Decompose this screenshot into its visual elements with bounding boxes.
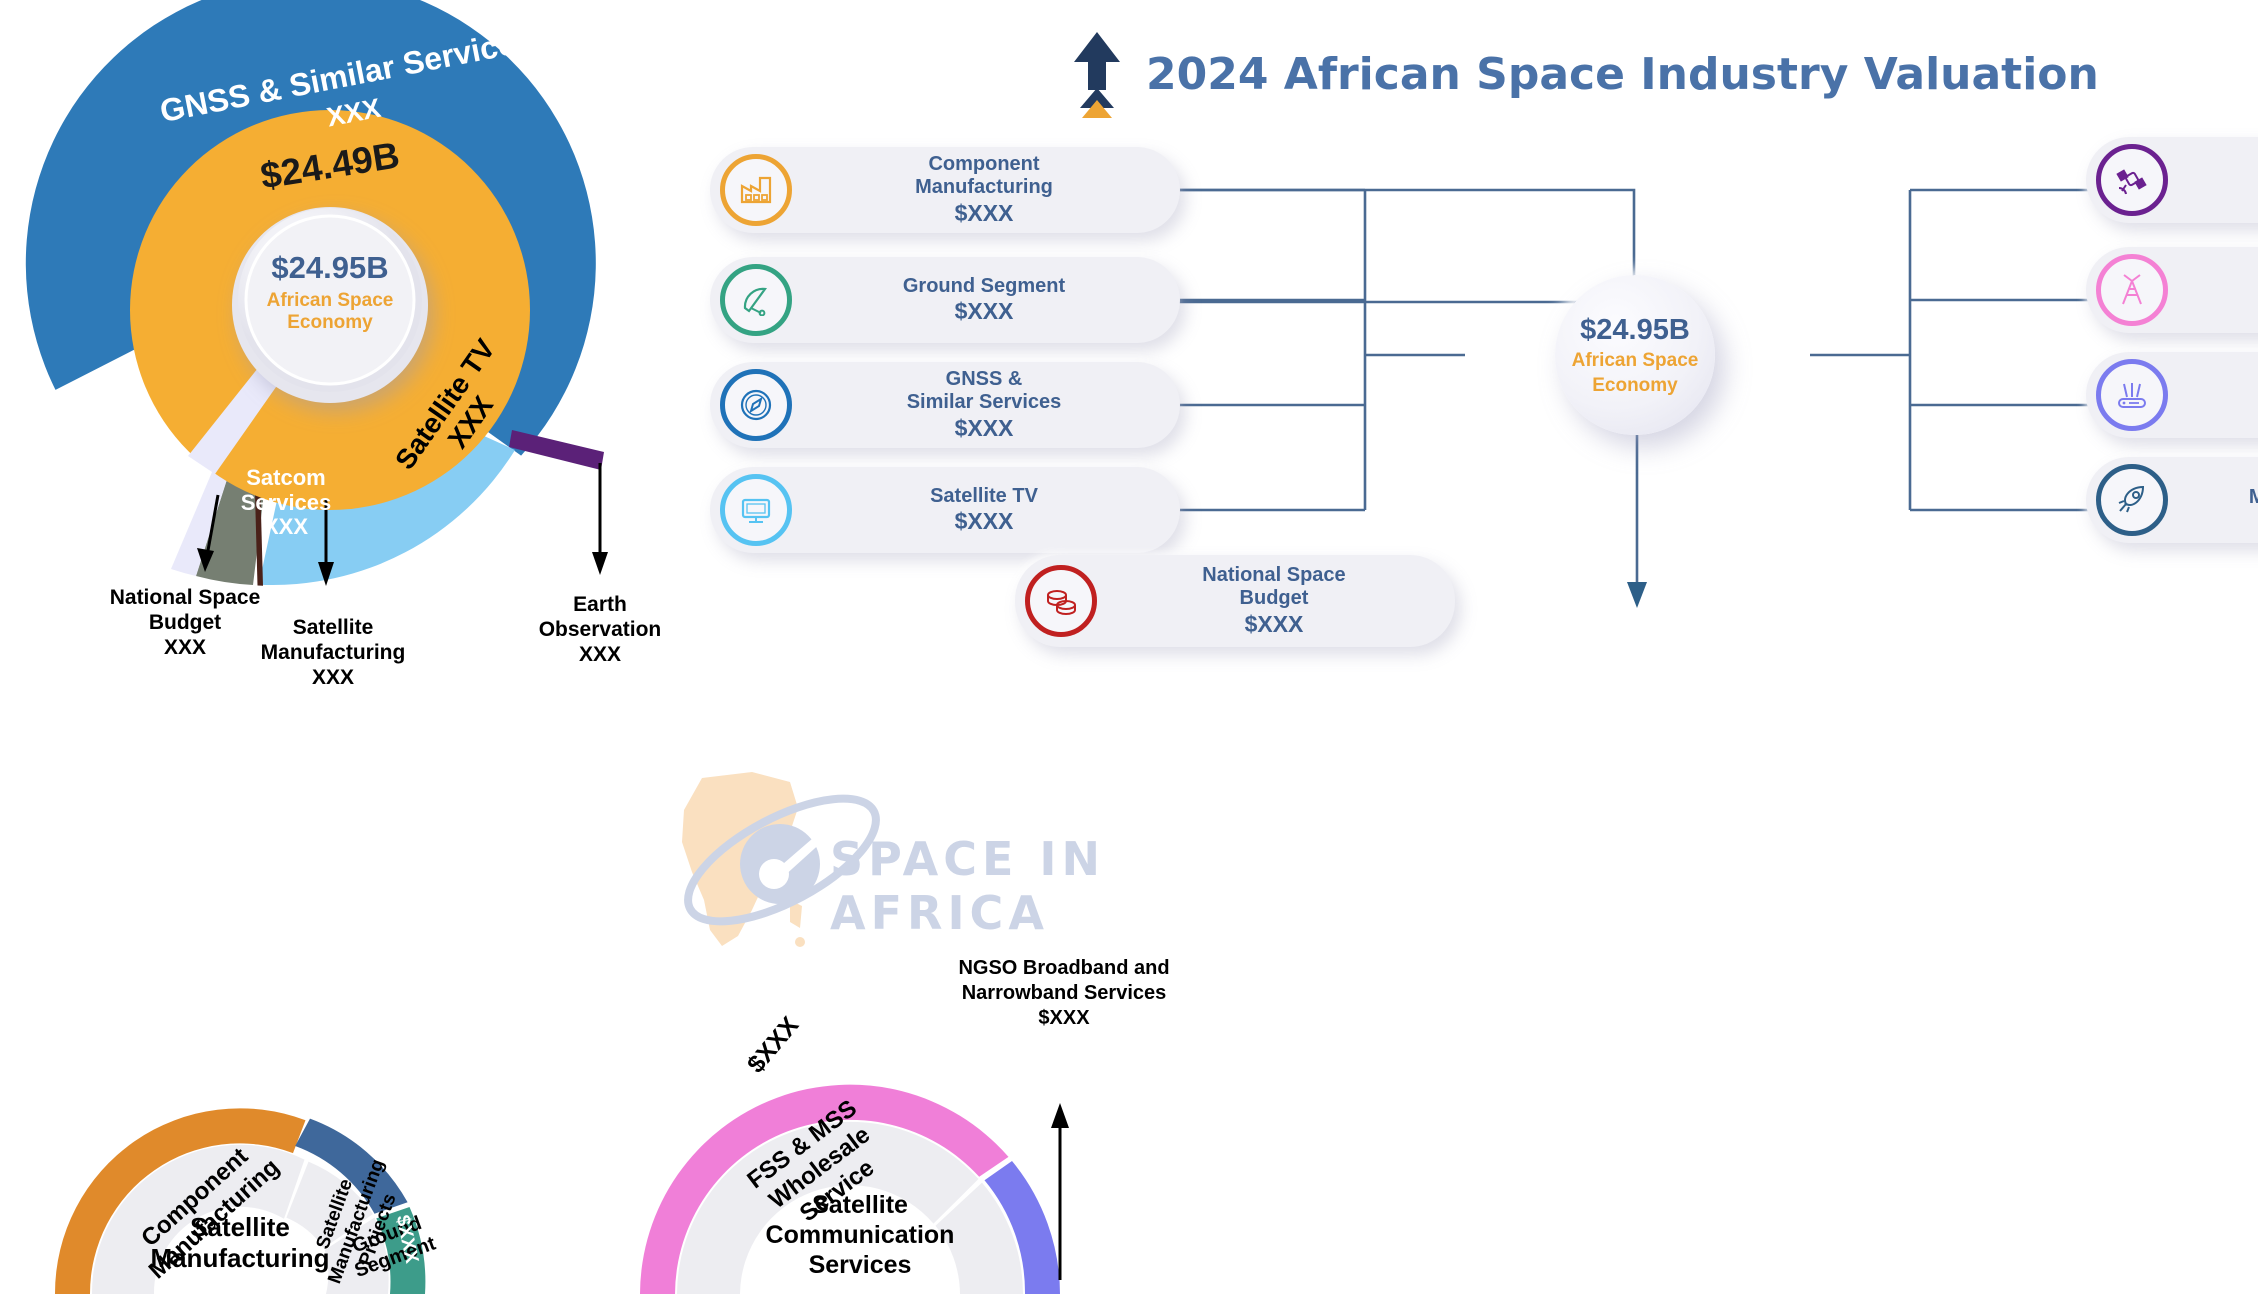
card-amount: $XXX [802, 508, 1166, 535]
card-satellite-tv[interactable]: Satellite TV $XXX [710, 467, 1180, 553]
hub-label-line1: African Space [1572, 350, 1699, 372]
card-component-manufacturing[interactable]: Component Manufacturing $XXX [710, 147, 1180, 233]
card-text: Satellite TV $XXX [802, 485, 1180, 536]
sunburst-label-satcom-value: XXX [264, 514, 308, 539]
page-title-row: 2024 African Space Industry Valuation [1070, 28, 2099, 120]
card-ngso-broadband-narrowband-services[interactable]: NGSO Broadband & Narrowband Services $XX… [2086, 352, 2258, 438]
g2s2-l2: Narrowband Services [962, 982, 1167, 1004]
television-icon [720, 474, 792, 546]
card-title-line1: Ground Segment [903, 275, 1065, 297]
card-title-line2: Manufacturing Projects [2249, 486, 2258, 508]
mindmap-hub[interactable]: $24.95B African Space Economy [1555, 275, 1715, 435]
gauge2-ngso-arrowhead [1051, 1103, 1069, 1128]
hub-label-line2: Economy [1592, 375, 1678, 397]
ann-sm-line1: Satellite [293, 616, 374, 639]
antenna-tower-icon [2096, 254, 2168, 326]
gauge2-center-line3: Services [809, 1251, 912, 1279]
rocket-icon [2096, 464, 2168, 536]
satellite-icon [2096, 144, 2168, 216]
ann-nsb-line1: National Space [110, 586, 261, 609]
hub-amount: $24.95B [1580, 314, 1690, 347]
center-label-line2: Economy [240, 312, 420, 334]
card-title-line2: Similar Services [907, 391, 1062, 413]
card-text: NGSO Broadband & Narrowband Services $XX… [2178, 358, 2258, 432]
compass-icon [720, 369, 792, 441]
infographic-canvas: SPACE IN AFRICA [0, 0, 2258, 1294]
up-arrow-icon [1070, 28, 1124, 120]
card-title-line1: National Space [1202, 564, 1345, 586]
card-amount: $XXX [2178, 178, 2258, 205]
sunburst-label-satcom-name: Satcom Services [228, 466, 344, 515]
card-amount: $XXX [2178, 510, 2258, 537]
card-text: National Space Budget $XXX [1107, 564, 1455, 638]
ann-nsb-line2: Budget [149, 611, 221, 634]
card-satellite-manufacturing-projects[interactable]: Satellite Manufacturing Projects $XXX [2086, 457, 2258, 543]
ann-nsb-value: XXX [164, 636, 206, 659]
segment-earth-observation[interactable] [509, 430, 604, 470]
card-amount: $XXX [1107, 611, 1441, 638]
mindmap-connectors [1010, 150, 2258, 950]
card-amount: $XXX [2178, 300, 2258, 327]
annotation-satellite-manufacturing: Satellite Manufacturing XXX [238, 615, 428, 691]
card-title-line1: Component [928, 153, 1039, 175]
gauge-satellite-manufacturing: Satellite Manufacturing Component Manufa… [40, 950, 600, 1294]
card-title-line1: GNSS & [946, 368, 1023, 390]
card-title-line2: Manufacturing [915, 176, 1053, 198]
card-title-line2: Budget [1240, 587, 1309, 609]
card-amount: $XXX [2178, 405, 2258, 432]
card-text: FSS & MSS Wholesale Services $XXX [2178, 253, 2258, 327]
ann-eo-value: XXX [579, 643, 621, 666]
card-amount: $XXX [802, 200, 1166, 227]
satellite-dish-icon [720, 264, 792, 336]
card-title-line1: Satellite TV [930, 485, 1038, 507]
sunburst-center-text: $24.95B African Space Economy [240, 250, 420, 334]
coins-icon [1025, 565, 1097, 637]
g2s2-l1: NGSO Broadband and [958, 957, 1169, 979]
center-amount: $24.95B [240, 250, 420, 286]
ann-sm-value: XXX [312, 666, 354, 689]
card-fss-mss-wholesale-services[interactable]: FSS & MSS Wholesale Services $XXX [2086, 247, 2258, 333]
card-text: Component Manufacturing $XXX [802, 153, 1180, 227]
card-ground-segment[interactable]: Ground Segment $XXX [710, 257, 1180, 343]
card-gnss-similar-services[interactable]: GNSS & Similar Services $XXX [710, 362, 1180, 448]
ann-eo-line1: Earth [573, 593, 627, 616]
card-earth-observation[interactable]: Earth Observation $XXX [2086, 137, 2258, 223]
gauge2-seg2-label: NGSO Broadband and Narrowband Services $… [958, 956, 1170, 1031]
ann-sm-line2: Manufacturing [261, 641, 406, 664]
card-amount: $XXX [802, 298, 1166, 325]
ann-eo-line2: Observation [539, 618, 662, 641]
card-text: Ground Segment $XXX [802, 275, 1180, 326]
card-text: Earth Observation $XXX [2178, 155, 2258, 206]
card-amount: $XXX [802, 415, 1166, 442]
annotation-earth-observation: Earth Observation XXX [520, 592, 680, 668]
g2s2-val: $XXX [1038, 1007, 1089, 1029]
card-text: Satellite Manufacturing Projects $XXX [2178, 463, 2258, 537]
gauge-satellite-communication: Satellite Communication Services FSS & M… [620, 940, 1340, 1294]
sunburst-label-satcom: Satcom Services XXX [228, 466, 344, 540]
center-label-line1: African Space [240, 290, 420, 312]
mindmap-diagram: $24.95B African Space Economy Component … [1010, 150, 2258, 950]
router-icon [2096, 359, 2168, 431]
card-national-space-budget[interactable]: National Space Budget $XXX [1015, 555, 1455, 647]
factory-icon [720, 154, 792, 226]
page-title: 2024 African Space Industry Valuation [1146, 49, 2099, 100]
card-text: GNSS & Similar Services $XXX [802, 368, 1180, 442]
